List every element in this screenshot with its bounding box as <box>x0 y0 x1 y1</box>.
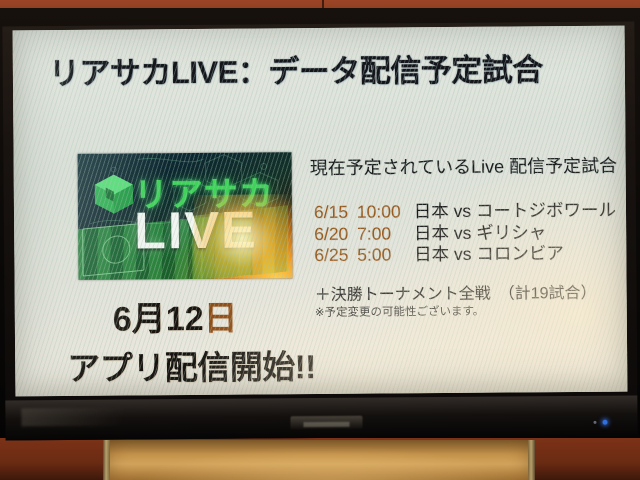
logo-cube-icon <box>92 171 136 215</box>
match-time: 5:00 <box>357 244 409 266</box>
release-date-suffix: 日 <box>203 300 237 338</box>
tv-brand-badge-text <box>304 422 350 427</box>
release-date: 6月12日 <box>113 291 238 341</box>
match-teams: 日本 vs コロンビア <box>414 243 564 264</box>
schedule-extra-note: ＋決勝トーナメント全戦 （計19試合） <box>315 279 597 305</box>
podium-frame-left <box>103 440 110 480</box>
match-date: 6/15 <box>314 202 352 224</box>
match-date: 6/25 <box>314 245 352 267</box>
match-teams: 日本 vs ギリシャ <box>414 222 546 243</box>
riasaka-live-logo: リアサカ LIVE <box>78 152 293 280</box>
photo-of-presentation-screen: リアサカLIVE：データ配信予定試合 <box>0 0 640 480</box>
match-teams: 日本 vs コートジボワール <box>414 200 616 222</box>
schedule-disclaimer: ※予定変更の可能性ございます。 <box>315 303 485 320</box>
podium-panel <box>105 440 533 480</box>
tv-power-led <box>602 420 607 425</box>
match-time: 10:00 <box>357 201 409 223</box>
logo-brand-bottom-text: LIVE <box>134 204 258 257</box>
match-time: 7:00 <box>357 223 409 245</box>
match-date: 6/20 <box>314 223 352 245</box>
release-headline: アプリ配信開始!! <box>67 340 316 390</box>
presentation-slide: リアサカLIVE：データ配信予定試合 <box>13 26 628 397</box>
tv-bezel-reflection <box>21 407 156 426</box>
tv-sensor-dot <box>593 421 596 424</box>
match-row: 6/20 7:00 日本 vs ギリシャ <box>314 221 616 245</box>
tv-screen: リアサカLIVE：データ配信予定試合 <box>13 26 628 397</box>
match-row: 6/15 10:00 日本 vs コートジボワール <box>314 200 616 224</box>
match-schedule-list: 6/15 10:00 日本 vs コートジボワール 6/20 7:00 日本 v… <box>314 200 616 267</box>
slide-title: リアサカLIVE：データ配信予定試合 <box>49 44 543 93</box>
release-date-prefix: 6月12 <box>113 300 204 339</box>
schedule-heading: 現在予定されているLive 配信予定試合 <box>310 152 618 180</box>
match-row: 6/25 5:00 日本 vs コロンビア <box>314 243 616 267</box>
podium-frame-right <box>528 440 535 480</box>
